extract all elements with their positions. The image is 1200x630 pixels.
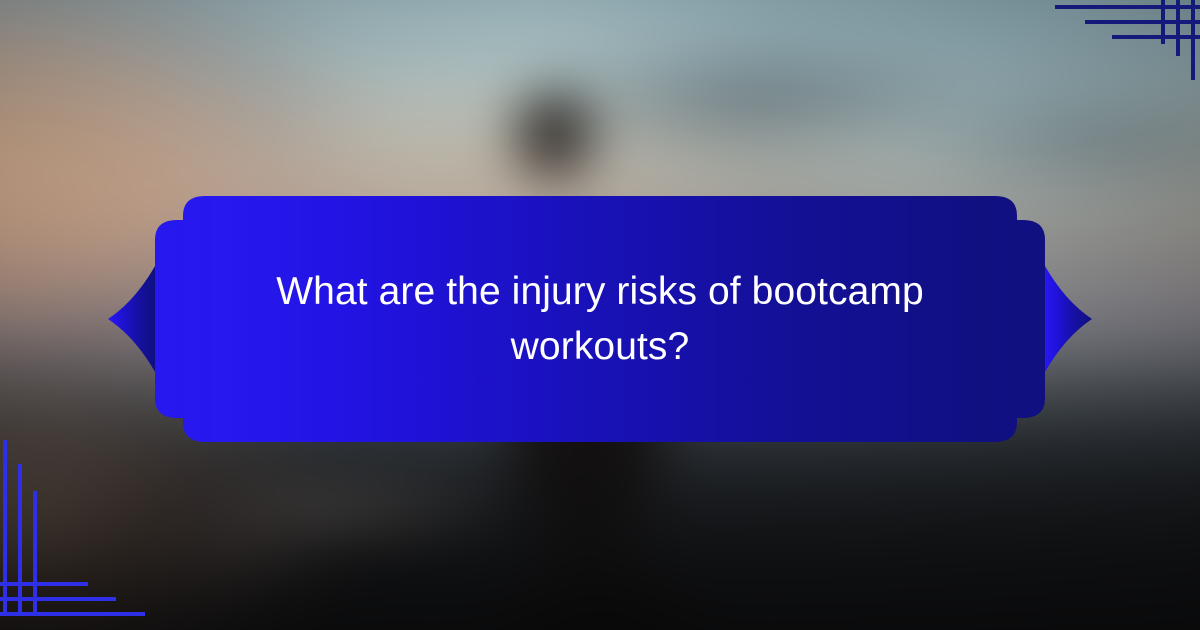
deco-line-vertical [1176, 0, 1180, 56]
headline-text: What are the injury risks of bootcamp wo… [270, 264, 930, 375]
corner-bracket-bottom-left [0, 440, 180, 630]
social-card: What are the injury risks of bootcamp wo… [0, 0, 1200, 630]
deco-line-horizontal [1085, 20, 1200, 24]
headline-banner: What are the injury risks of bootcamp wo… [108, 196, 1092, 442]
deco-line-vertical [1161, 0, 1165, 44]
deco-line-horizontal [0, 582, 88, 586]
deco-line-vertical [18, 464, 22, 616]
deco-line-horizontal [0, 597, 116, 601]
deco-line-vertical [3, 440, 7, 616]
headline-container: What are the injury risks of bootcamp wo… [108, 196, 1092, 442]
corner-bracket-top-right [1040, 0, 1200, 80]
deco-line-vertical [1191, 0, 1195, 80]
deco-line-horizontal [1112, 35, 1200, 39]
deco-line-horizontal [0, 612, 145, 616]
